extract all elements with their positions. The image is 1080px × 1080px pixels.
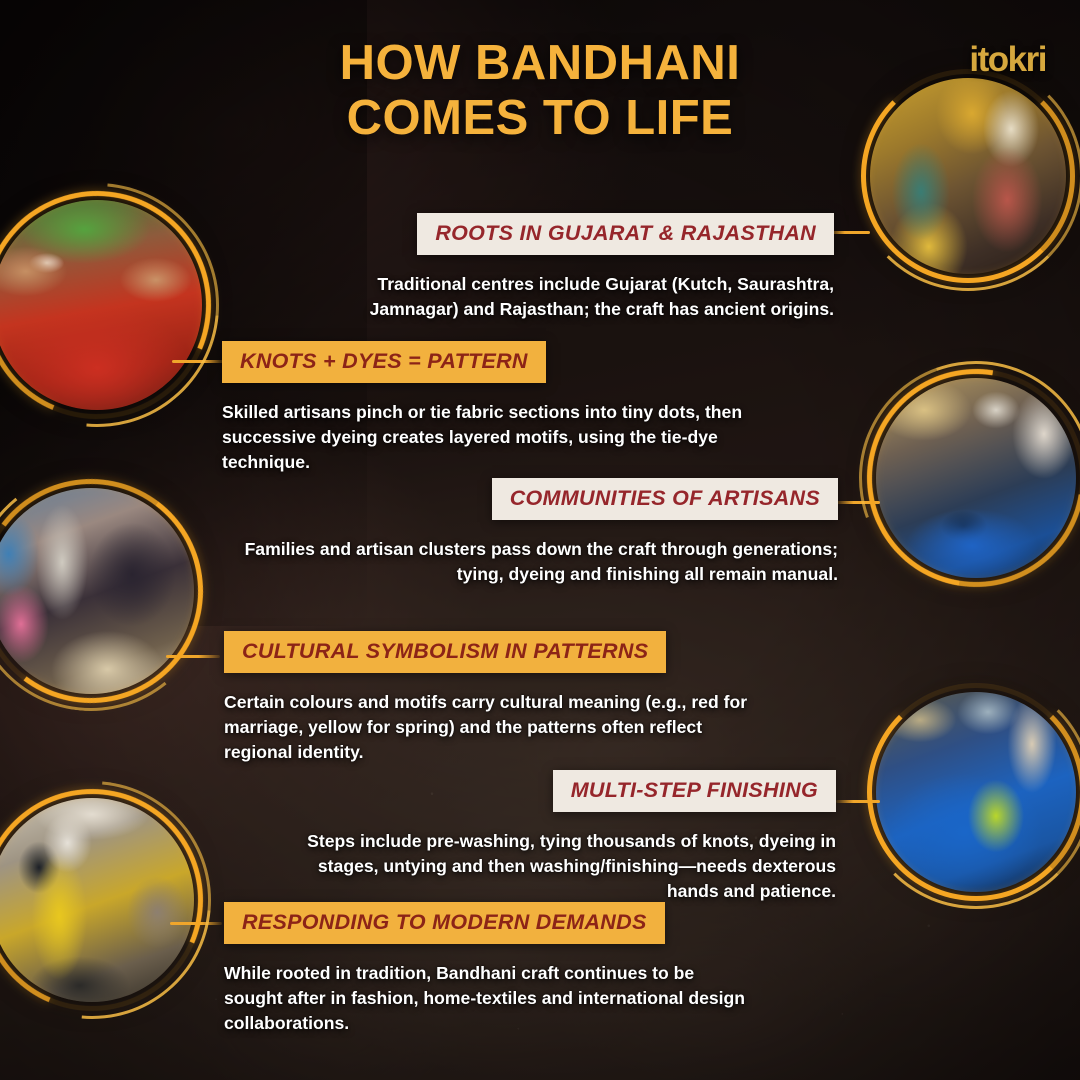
connector-line-3 bbox=[836, 501, 880, 504]
section-responding-to-modern-demands: RESPONDING TO MODERN DEMANDS While roote… bbox=[224, 902, 794, 1036]
section-1-label[interactable]: ROOTS IN GUJARAT & RAJASTHAN bbox=[417, 213, 834, 255]
section-5-label[interactable]: MULTI-STEP FINISHING bbox=[553, 770, 836, 812]
photo-women-tying-bandhani-knots bbox=[870, 78, 1066, 274]
photo-dyer-lifting-yellow-fabric-image bbox=[0, 798, 194, 1002]
photo-hands-tying-red-fabric bbox=[0, 200, 202, 410]
photo-dyer-lifting-yellow-fabric bbox=[0, 798, 194, 1002]
section-communities-of-artisans: COMMUNITIES OF ARTISANS Families and art… bbox=[218, 478, 838, 587]
photo-blue-dye-vat-with-yellow-fabric bbox=[876, 692, 1076, 892]
section-5-body: Steps include pre-washing, tying thousan… bbox=[236, 829, 836, 904]
photo-hands-tying-red-fabric-image bbox=[0, 200, 202, 410]
brand-logo-itokri[interactable]: itokri bbox=[969, 40, 1046, 80]
photo-woman-tying-cream-fabric-image bbox=[0, 488, 194, 694]
photo-artisan-dyeing-in-blue-tub-image bbox=[876, 378, 1076, 578]
section-2-label[interactable]: KNOTS + DYES = PATTERN bbox=[222, 341, 546, 383]
connector-line-4 bbox=[166, 655, 220, 658]
photo-blue-dye-vat-with-yellow-fabric-image bbox=[876, 692, 1076, 892]
section-6-label[interactable]: RESPONDING TO MODERN DEMANDS bbox=[224, 902, 665, 944]
section-4-label[interactable]: CULTURAL SYMBOLISM IN PATTERNS bbox=[224, 631, 666, 673]
section-6-body: While rooted in tradition, Bandhani craf… bbox=[224, 961, 794, 1036]
photo-woman-tying-cream-fabric bbox=[0, 488, 194, 694]
section-4-body: Certain colours and motifs carry cultura… bbox=[224, 690, 784, 765]
section-roots-in-gujarat-rajasthan: ROOTS IN GUJARAT & RAJASTHAN Traditional… bbox=[234, 213, 834, 322]
section-multi-step-finishing: MULTI-STEP FINISHING Steps include pre-w… bbox=[236, 770, 836, 904]
connector-line-1 bbox=[828, 231, 870, 234]
photo-women-tying-bandhani-knots-image bbox=[870, 78, 1066, 274]
connector-line-2 bbox=[172, 360, 224, 363]
connector-line-5 bbox=[836, 800, 880, 803]
section-3-body: Families and artisan clusters pass down … bbox=[218, 537, 838, 587]
section-1-body: Traditional centres include Gujarat (Kut… bbox=[234, 272, 834, 322]
section-cultural-symbolism-in-patterns: CULTURAL SYMBOLISM IN PATTERNS Certain c… bbox=[224, 631, 784, 765]
connector-line-6 bbox=[170, 922, 222, 925]
section-knots-dyes-pattern: KNOTS + DYES = PATTERN Skilled artisans … bbox=[222, 341, 802, 475]
section-2-body: Skilled artisans pinch or tie fabric sec… bbox=[222, 400, 802, 475]
section-3-label[interactable]: COMMUNITIES OF ARTISANS bbox=[492, 478, 838, 520]
photo-artisan-dyeing-in-blue-tub bbox=[876, 378, 1076, 578]
